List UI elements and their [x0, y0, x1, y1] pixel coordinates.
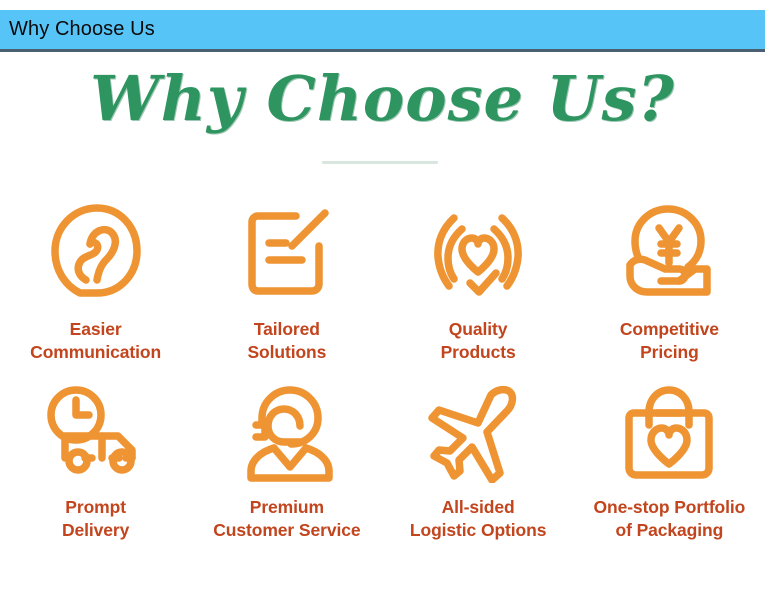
- feature-grid: Easier Communication Tailored Solutions: [0, 196, 765, 566]
- hand-holding-yen-coin-icon: [621, 196, 717, 308]
- delivery-truck-clock-icon: [44, 381, 148, 486]
- feature-label: Prompt Delivery: [62, 496, 129, 542]
- feature-label: Premium Customer Service: [213, 496, 360, 542]
- feature-item-easier-communication[interactable]: Easier Communication: [0, 196, 191, 381]
- window-title: Why Choose Us: [0, 18, 155, 41]
- feature-item-tailored-solutions[interactable]: Tailored Solutions: [191, 196, 382, 381]
- feature-item-one-stop-portfolio-of-packaging[interactable]: One-stop Portfolio of Packaging: [574, 381, 765, 566]
- ear-in-circle-icon: [50, 196, 142, 308]
- shopping-bag-heart-icon: [621, 381, 717, 486]
- document-pencil-icon: [241, 196, 333, 308]
- heading-divider: [322, 161, 438, 164]
- feature-item-quality-products[interactable]: Quality Products: [383, 196, 574, 381]
- feature-item-premium-customer-service[interactable]: Premium Customer Service: [191, 381, 382, 566]
- feature-item-prompt-delivery[interactable]: Prompt Delivery: [0, 381, 191, 566]
- airplane-icon: [428, 381, 528, 486]
- heart-waves-check-icon: [432, 196, 524, 308]
- feature-label: Tailored Solutions: [247, 318, 326, 364]
- window-titlebar: Why Choose Us: [0, 10, 765, 52]
- feature-label: Quality Products: [441, 318, 516, 364]
- feature-label: Easier Communication: [30, 318, 161, 364]
- page-title: Why Choose Us?: [0, 62, 765, 136]
- feature-label: One-stop Portfolio of Packaging: [593, 496, 745, 542]
- feature-label: Competitive Pricing: [620, 318, 719, 364]
- headset-agent-icon: [238, 381, 336, 486]
- window-titlebar-area: Why Choose Us: [0, 10, 765, 55]
- feature-item-competitive-pricing[interactable]: Competitive Pricing: [574, 196, 765, 381]
- feature-label: All-sided Logistic Options: [410, 496, 546, 542]
- page-heading-block: Why Choose Us? Why Choose Us?: [0, 62, 765, 167]
- feature-item-all-sided-logistic-options[interactable]: All-sided Logistic Options: [383, 381, 574, 566]
